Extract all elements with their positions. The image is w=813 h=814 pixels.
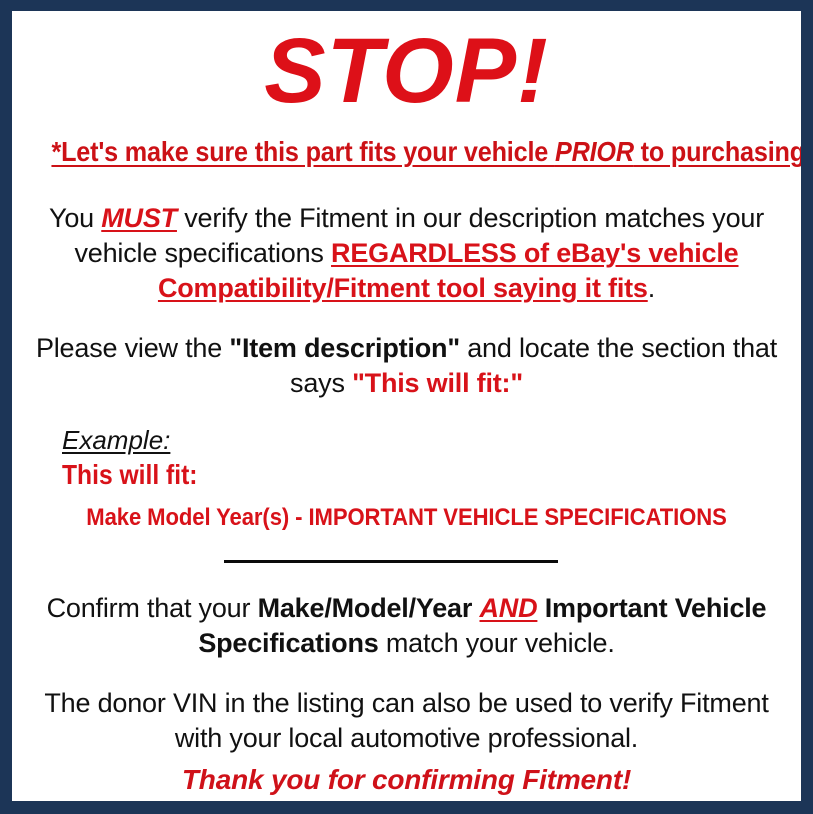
closing-thank-you: Thank you for confirming Fitment!: [12, 763, 801, 797]
p1-seg-1: You: [49, 203, 101, 233]
subtitle-line: *Let's make sure this part fits your veh…: [51, 135, 761, 169]
p2-seg-1: Please view the: [36, 333, 229, 363]
subtitle-emphasis-prior: PRIOR: [555, 136, 634, 167]
p2-red-this-will-fit: "This will fit:": [352, 368, 523, 398]
fitment-warning-poster: STOP! *Let's make sure this part fits yo…: [0, 0, 813, 814]
section-divider: [224, 560, 558, 563]
paragraph-donor-vin: The donor VIN in the listing can also be…: [12, 686, 801, 756]
pc-bold-make-model-year: Make/Model/Year: [258, 593, 473, 623]
p1-seg-5: .: [648, 273, 655, 303]
example-block: Example: This will fit:: [62, 425, 761, 492]
pc-seg-1: Confirm that your: [47, 593, 258, 623]
pc-seg-5: match your vehicle.: [379, 628, 615, 658]
paragraph-item-description: Please view the "Item description" and l…: [12, 331, 801, 401]
stop-headline: STOP!: [12, 19, 801, 123]
example-spec-line: Make Model Year(s) - IMPORTANT VEHICLE S…: [44, 503, 770, 532]
subtitle-lead: *Let's make sure this part fits your veh…: [51, 136, 554, 167]
subtitle-tail: to purchasing*: [634, 136, 801, 167]
paragraph-must-verify: You MUST verify the Fitment in our descr…: [12, 201, 801, 306]
paragraph-confirm: Confirm that your Make/Model/Year AND Im…: [12, 591, 801, 661]
example-fit-heading: This will fit:: [62, 458, 677, 492]
poster-canvas: STOP! *Let's make sure this part fits yo…: [12, 11, 801, 801]
pc-red-and: AND: [480, 593, 538, 623]
p1-emphasis-must: MUST: [101, 203, 177, 233]
p2-bold-item-description: "Item description": [229, 333, 460, 363]
example-label: Example:: [62, 425, 170, 456]
